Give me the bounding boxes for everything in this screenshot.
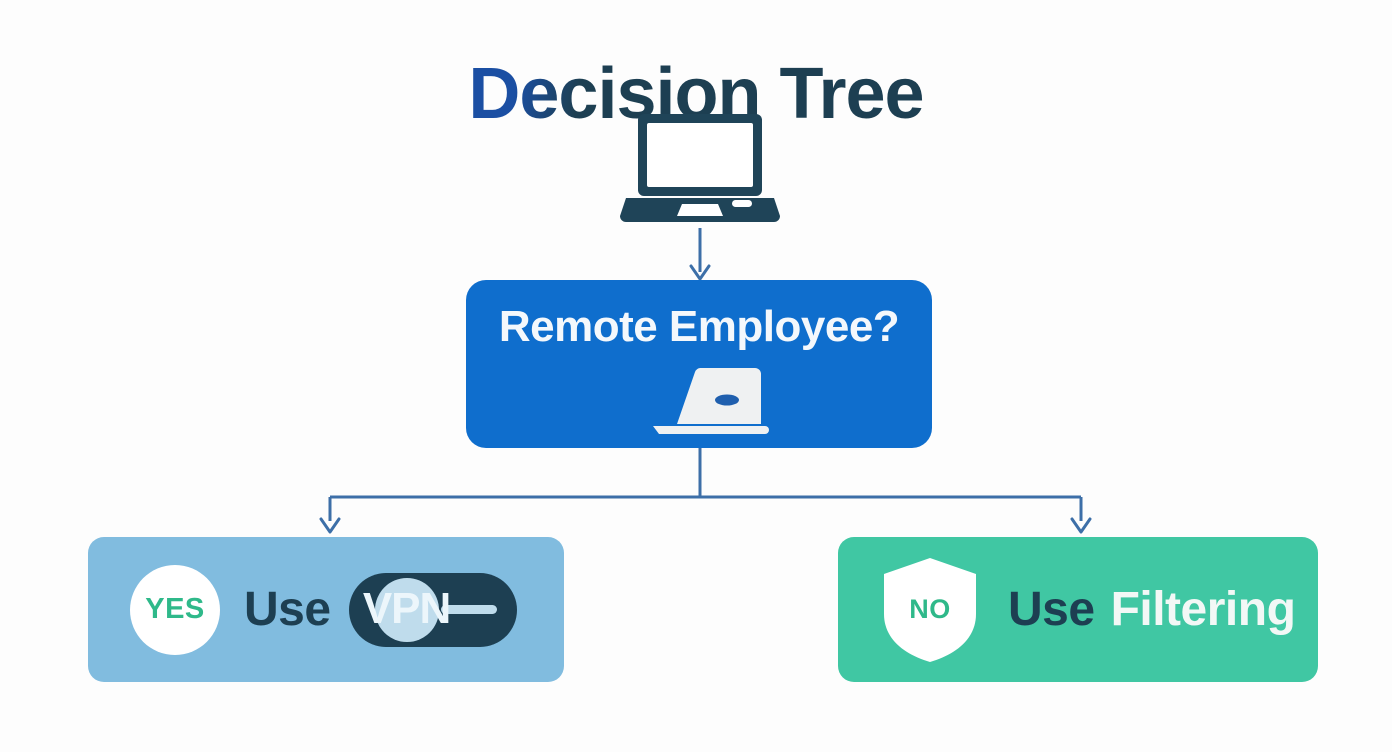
branch-yes-object: VPN bbox=[357, 584, 457, 634]
laptop-icon bbox=[620, 112, 780, 224]
decision-node-label: Remote Employee? bbox=[466, 302, 932, 352]
branch-yes-badge-label: YES bbox=[145, 593, 205, 626]
branch-no-badge-label: NO bbox=[880, 594, 980, 625]
arrowhead-left bbox=[321, 519, 339, 532]
arrowhead-top bbox=[691, 266, 709, 279]
branch-yes-use-vpn[interactable]: YES Use VPN bbox=[88, 537, 564, 682]
branch-no-use-filtering[interactable]: NO Use Filtering bbox=[838, 537, 1318, 682]
branch-no-object: Filtering bbox=[1111, 582, 1296, 637]
circle-badge-icon: YES bbox=[130, 565, 220, 655]
laptop-open-icon bbox=[649, 368, 769, 438]
branch-yes-verb: Use bbox=[244, 582, 331, 637]
shield-icon: NO bbox=[880, 556, 980, 664]
branch-no-verb: Use bbox=[1008, 582, 1095, 637]
arrowhead-right bbox=[1072, 519, 1090, 532]
decision-node-remote-employee[interactable]: Remote Employee? bbox=[466, 280, 932, 448]
vpn-toggle-switch[interactable]: VPN bbox=[349, 573, 517, 647]
decision-tree-canvas: Decision Tree Remote Employe bbox=[0, 0, 1392, 752]
